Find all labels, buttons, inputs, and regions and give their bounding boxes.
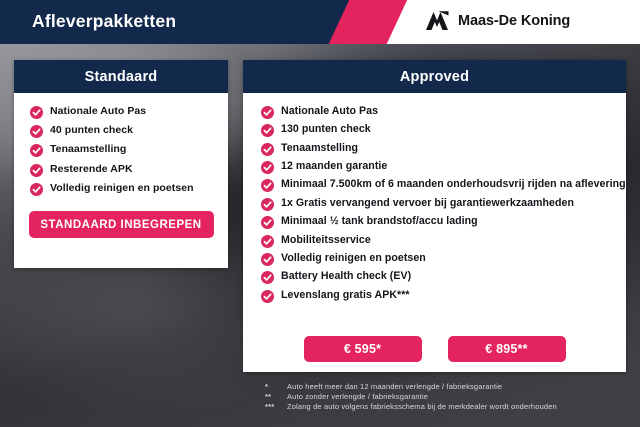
list-item: Volledig reinigen en poetsen: [243, 251, 626, 266]
feature-label: 12 maanden garantie: [281, 159, 387, 174]
footnote-marker: **: [265, 392, 287, 401]
check-circle-icon: [261, 198, 274, 211]
check-circle-icon: [30, 164, 43, 177]
card-standaard-header: Standaard: [14, 60, 228, 93]
check-circle-icon: [30, 106, 43, 119]
check-circle-icon: [30, 125, 43, 138]
feature-label: Volledig reinigen en poetsen: [50, 181, 194, 196]
list-item: 12 maanden garantie: [243, 159, 626, 174]
feature-label: 130 punten check: [281, 122, 371, 137]
list-item: Resterende APK: [14, 162, 228, 177]
footnotes: * Auto heeft meer dan 12 maanden verleng…: [265, 382, 635, 412]
list-item: Minimaal 7.500km of 6 maanden onderhouds…: [243, 177, 626, 192]
footnote-row: *** Zolang de auto volgens fabrieksschem…: [265, 402, 635, 411]
check-circle-icon: [261, 235, 274, 248]
feature-label: Resterende APK: [50, 162, 133, 177]
standaard-inbegrepen-button[interactable]: STANDAARD INBEGREPEN: [29, 211, 214, 238]
list-item: Nationale Auto Pas: [243, 104, 626, 119]
list-item: 130 punten check: [243, 122, 626, 137]
feature-label: Minimaal 7.500km of 6 maanden onderhouds…: [281, 177, 626, 192]
feature-label: Mobiliteitsservice: [281, 233, 371, 248]
card-standaard-button-row: STANDAARD INBEGREPEN: [14, 211, 228, 238]
list-item: Nationale Auto Pas: [14, 104, 228, 119]
feature-label: Tenaamstelling: [281, 141, 358, 156]
card-approved-feature-list: Nationale Auto Pas 130 punten check Tena…: [243, 93, 626, 303]
check-circle-icon: [261, 124, 274, 137]
card-standaard: Standaard Nationale Auto Pas 40 punten c…: [14, 60, 228, 268]
feature-label: Volledig reinigen en poetsen: [281, 251, 426, 266]
list-item: Minimaal ½ tank brandstof/accu lading: [243, 214, 626, 229]
check-circle-icon: [261, 290, 274, 303]
check-circle-icon: [261, 106, 274, 119]
brand-logo: Maas-De Koning: [424, 10, 570, 32]
feature-label: 40 punten check: [50, 123, 133, 138]
feature-label: Nationale Auto Pas: [50, 104, 146, 119]
brand-name-label: Maas-De Koning: [458, 13, 570, 29]
feature-label: 1x Gratis vervangend vervoer bij garanti…: [281, 196, 574, 211]
footnote-row: * Auto heeft meer dan 12 maanden verleng…: [265, 382, 635, 391]
card-approved: Approved Nationale Auto Pas 130 punten c…: [243, 60, 626, 372]
card-approved-header: Approved: [243, 60, 626, 93]
feature-label: Nationale Auto Pas: [281, 104, 378, 119]
page-header: Afleverpakketten Maas-De Koning: [0, 0, 640, 44]
check-circle-icon: [261, 179, 274, 192]
card-standaard-title: Standaard: [85, 69, 158, 85]
list-item: Tenaamstelling: [243, 141, 626, 156]
list-item: Volledig reinigen en poetsen: [14, 181, 228, 196]
check-circle-icon: [261, 271, 274, 284]
check-circle-icon: [30, 144, 43, 157]
footnote-text: Auto heeft meer dan 12 maanden verlengde…: [287, 382, 502, 391]
page-title: Afleverpakketten: [32, 11, 176, 32]
list-item: Mobiliteitsservice: [243, 233, 626, 248]
footnote-text: Zolang de auto volgens fabrieksschema bi…: [287, 402, 557, 411]
check-circle-icon: [261, 161, 274, 174]
price-button-595[interactable]: € 595*: [304, 336, 422, 362]
check-circle-icon: [261, 253, 274, 266]
list-item: Tenaamstelling: [14, 142, 228, 157]
feature-label: Battery Health check (EV): [281, 269, 411, 284]
card-standaard-feature-list: Nationale Auto Pas 40 punten check Tenaa…: [14, 93, 228, 196]
feature-label: Minimaal ½ tank brandstof/accu lading: [281, 214, 478, 229]
check-circle-icon: [261, 216, 274, 229]
footnote-text: Auto zonder verlengde / fabrieksgarantie: [287, 392, 428, 401]
feature-label: Levenslang gratis APK***: [281, 288, 410, 303]
list-item: Battery Health check (EV): [243, 269, 626, 284]
price-button-895[interactable]: € 895**: [448, 336, 566, 362]
afleverpakketten-page: Afleverpakketten Maas-De Koning Standaar…: [0, 0, 640, 427]
footnote-marker: *: [265, 382, 287, 391]
maas-de-koning-m-logo-icon: [424, 10, 450, 32]
check-circle-icon: [30, 183, 43, 196]
list-item: 1x Gratis vervangend vervoer bij garanti…: [243, 196, 626, 211]
check-circle-icon: [261, 143, 274, 156]
price-button-row: € 595* € 895**: [243, 336, 626, 362]
footnote-row: ** Auto zonder verlengde / fabrieksgaran…: [265, 392, 635, 401]
footnote-marker: ***: [265, 402, 287, 411]
card-approved-title: Approved: [400, 69, 469, 85]
feature-label: Tenaamstelling: [50, 142, 126, 157]
list-item: 40 punten check: [14, 123, 228, 138]
list-item: Levenslang gratis APK***: [243, 288, 626, 303]
